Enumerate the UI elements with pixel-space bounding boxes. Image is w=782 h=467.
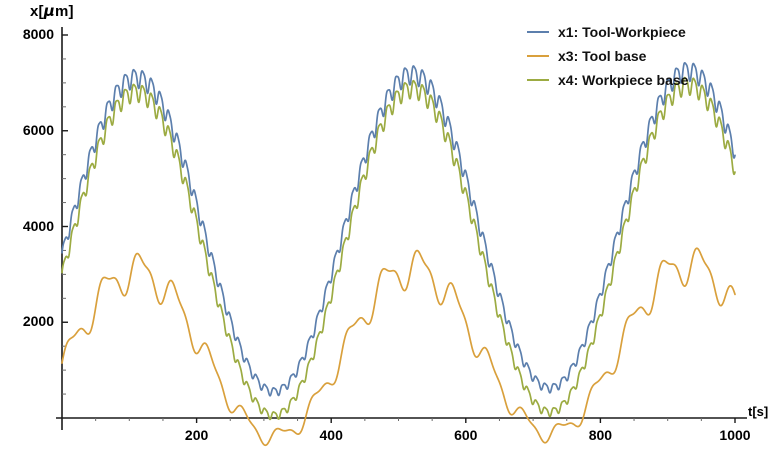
x-tick-label: 600 (436, 427, 496, 443)
legend-label-x4: x4: Workpiece base (558, 72, 688, 88)
y-tick-label: 6000 (0, 122, 54, 138)
legend: x1: Tool-Workpiece x3: Tool base x4: Wor… (527, 20, 688, 92)
legend-item[interactable]: x3: Tool base (527, 44, 688, 68)
x-tick-label: 400 (301, 427, 361, 443)
legend-swatch-x4 (527, 79, 549, 81)
legend-label-x3: x3: Tool base (558, 48, 646, 64)
y-tick-label: 2000 (0, 313, 54, 329)
legend-swatch-x1 (527, 31, 549, 33)
series-line-x3 (62, 248, 735, 445)
x-tick-label: 1000 (705, 427, 765, 443)
y-tick-label: 8000 (0, 26, 54, 42)
series-line-x1 (62, 63, 735, 396)
legend-swatch-x3 (527, 55, 549, 57)
chart-figure: x[μm] t[s] 2000400060008000 200400600800… (0, 0, 782, 467)
legend-item[interactable]: x1: Tool-Workpiece (527, 20, 688, 44)
x-tick-label: 200 (167, 427, 227, 443)
legend-label-x1: x1: Tool-Workpiece (558, 24, 686, 40)
legend-item[interactable]: x4: Workpiece base (527, 68, 688, 92)
series-line-x4 (62, 78, 735, 420)
y-tick-label: 4000 (0, 218, 54, 234)
x-tick-label: 800 (570, 427, 630, 443)
